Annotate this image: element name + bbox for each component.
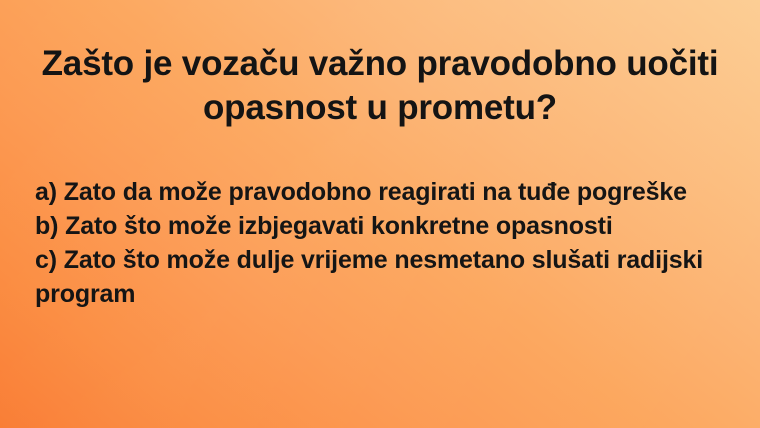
page-title: Zašto je vozaču važno pravodobno uočiti … bbox=[35, 42, 725, 130]
answer-option-a[interactable]: a) Zato da može pravodobno reagirati na … bbox=[35, 175, 735, 209]
question-slide: Zašto je vozaču važno pravodobno uočiti … bbox=[0, 0, 760, 428]
answer-option-c[interactable]: c) Zato što može dulje vrijeme nesmetano… bbox=[35, 243, 735, 311]
answer-options-list: a) Zato da može pravodobno reagirati na … bbox=[35, 175, 735, 311]
slide-content: Zašto je vozaču važno pravodobno uočiti … bbox=[35, 0, 725, 428]
answer-option-b[interactable]: b) Zato što može izbjegavati konkretne o… bbox=[35, 209, 735, 243]
